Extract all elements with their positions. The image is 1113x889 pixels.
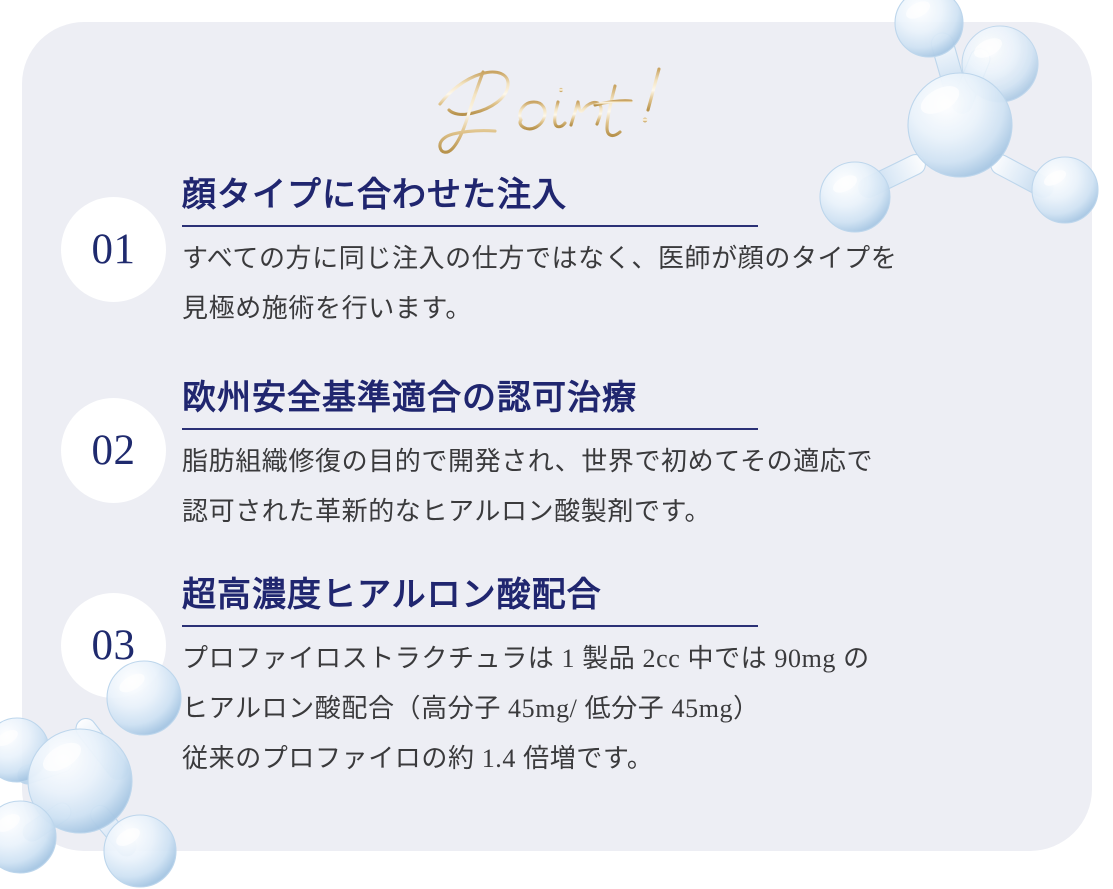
point-heading-01: 顔タイプに合わせた注入 <box>182 175 1042 216</box>
point-text-line-03-1: プロファイロストラクチュラは 1 製品 2cc 中では 90mg の <box>182 634 1042 684</box>
point-body-01: 顔タイプに合わせた注入 すべての方に同じ注入の仕方ではなく、医師が顔のタイプを … <box>182 175 1042 334</box>
point-divider-02 <box>182 428 758 430</box>
point-list: 01 顔タイプに合わせた注入 すべての方に同じ注入の仕方ではなく、医師が顔のタイ… <box>0 0 1113 889</box>
point-text-line-01-1: すべての方に同じ注入の仕方ではなく、医師が顔のタイプを <box>182 234 1042 284</box>
point-number-badge-03: 03 <box>61 593 166 698</box>
point-text-line-01-2: 見極め施術を行います。 <box>182 284 1042 334</box>
point-text-line-03-3: 従来のプロファイロの約 1.4 倍増です。 <box>182 734 1042 784</box>
point-number-02: 02 <box>92 429 136 472</box>
point-number-01: 01 <box>92 228 136 271</box>
point-number-03: 03 <box>92 624 136 667</box>
point-number-badge-02: 02 <box>61 398 166 503</box>
point-heading-02: 欧州安全基準適合の認可治療 <box>182 378 1042 419</box>
point-text-line-03-2: ヒアルロン酸配合（高分子 45mg/ 低分子 45mg） <box>182 684 1042 734</box>
point-body-02: 欧州安全基準適合の認可治療 脂肪組織修復の目的で開発され、世界で初めてその適応で… <box>182 378 1042 537</box>
point-heading-03: 超高濃度ヒアルロン酸配合 <box>182 575 1042 616</box>
point-text-line-02-1: 脂肪組織修復の目的で開発され、世界で初めてその適応で <box>182 437 1042 487</box>
point-divider-03 <box>182 625 758 627</box>
point-text-line-02-2: 認可された革新的なヒアルロン酸製剤です。 <box>182 487 1042 537</box>
point-divider-01 <box>182 225 758 227</box>
point-number-badge-01: 01 <box>61 197 166 302</box>
point-body-03: 超高濃度ヒアルロン酸配合 プロファイロストラクチュラは 1 製品 2cc 中では… <box>182 575 1042 784</box>
